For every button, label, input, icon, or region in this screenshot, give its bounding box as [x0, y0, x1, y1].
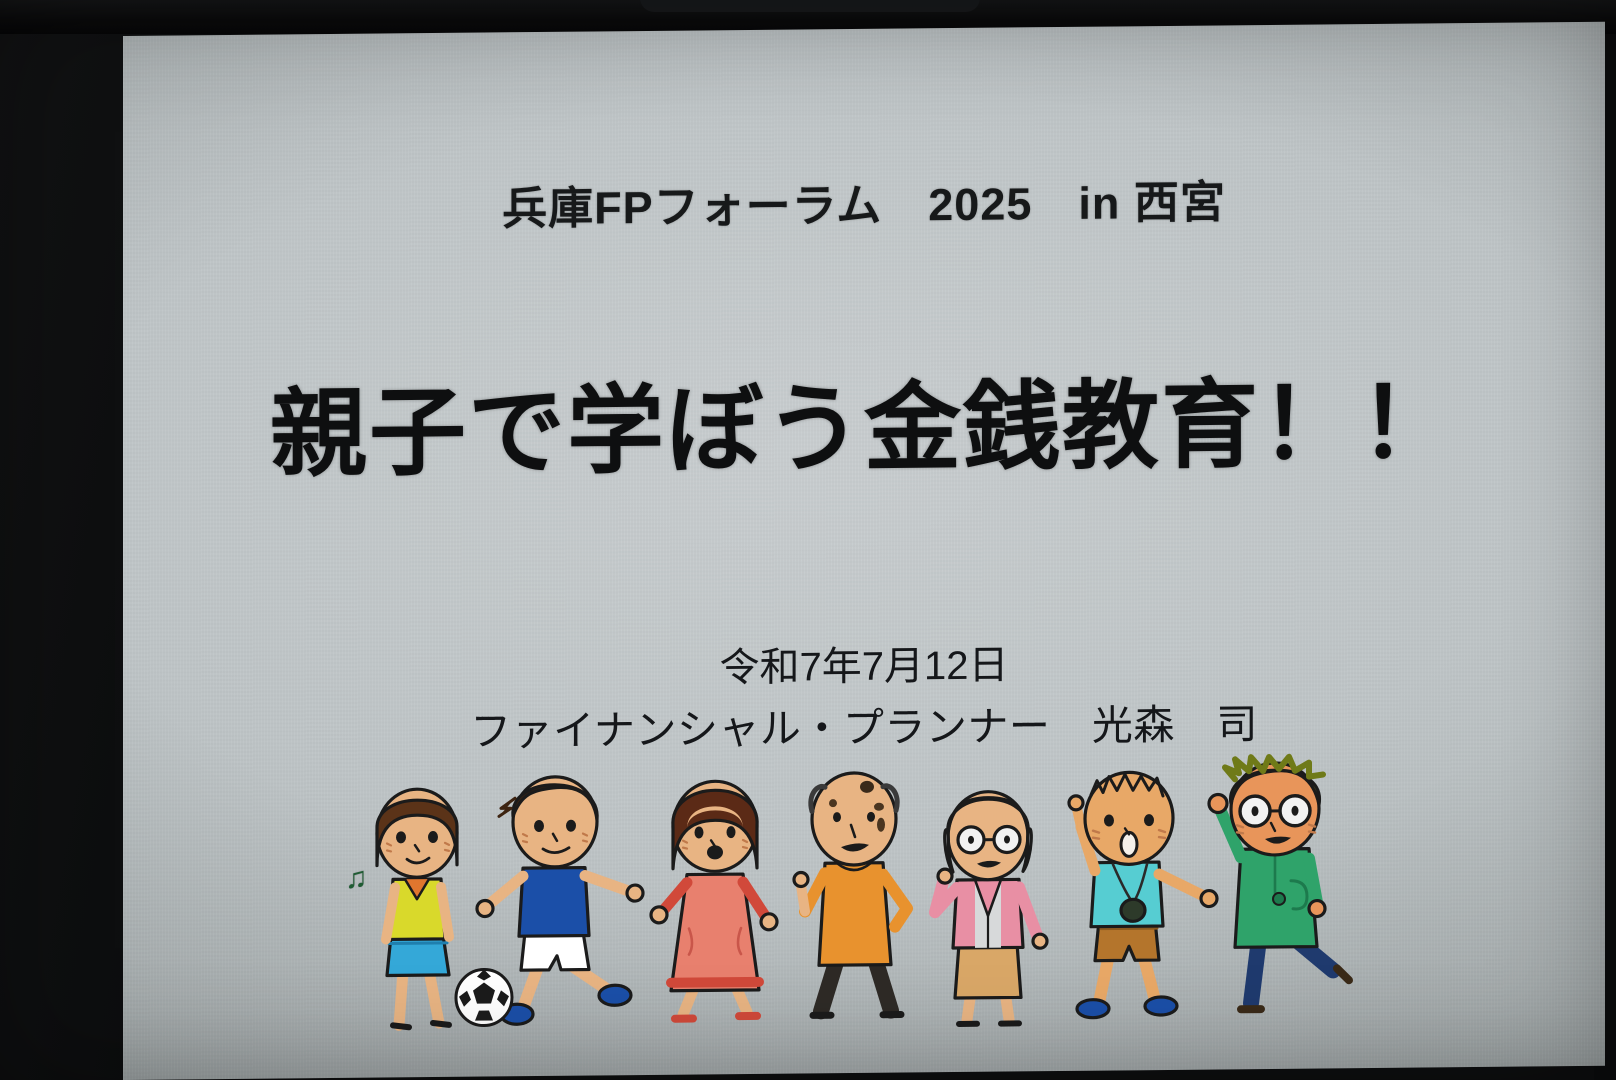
projection-screen: 兵庫FPフォーラム 2025 in 西宮 親子で学ぼう金銭教育！！ 令和7年7月…: [123, 22, 1605, 1080]
slide-header: 兵庫FPフォーラム 2025 in 西宮: [123, 162, 1605, 241]
figure-man-green-glasses: [1191, 752, 1363, 1026]
figure-elderly-woman-pink: [913, 775, 1063, 1028]
illustration-group: ♫ ♫: [353, 734, 1363, 1034]
figure-girl-coral-dress: [635, 768, 795, 1032]
room-wall-left: [0, 0, 140, 1080]
figure-elderly-man-orange: [779, 762, 929, 1029]
soccer-ball-icon: [453, 966, 515, 1029]
ceiling-fixture: [640, 0, 980, 12]
slide-content: 兵庫FPフォーラム 2025 in 西宮 親子で学ぼう金銭教育！！ 令和7年7月…: [123, 22, 1605, 1080]
slide-main-title: 親子で学ぼう金銭教育！！: [123, 342, 1605, 497]
projector-photo: 兵庫FPフォーラム 2025 in 西宮 親子で学ぼう金銭教育！！ 令和7年7月…: [0, 0, 1616, 1080]
